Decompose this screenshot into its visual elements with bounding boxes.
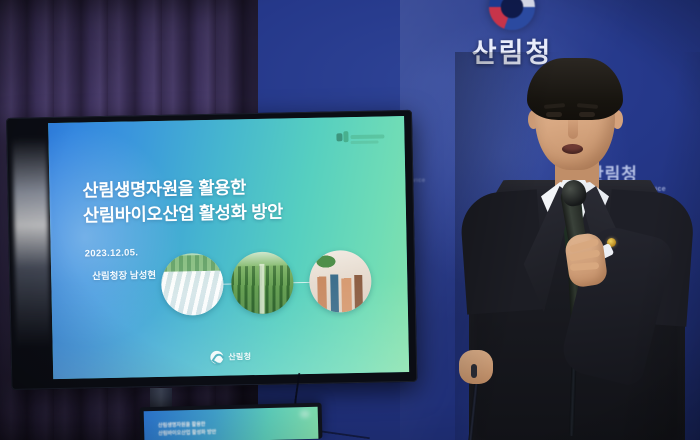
pointer-grip (471, 364, 477, 378)
nose (568, 120, 578, 139)
eye-right (579, 112, 595, 117)
mouth (562, 144, 583, 154)
hair (527, 58, 623, 120)
press-briefing-scene: 산림청 산림청 Korea Forest Service ...rvice 산림… (0, 0, 700, 440)
eye-left (546, 112, 562, 117)
